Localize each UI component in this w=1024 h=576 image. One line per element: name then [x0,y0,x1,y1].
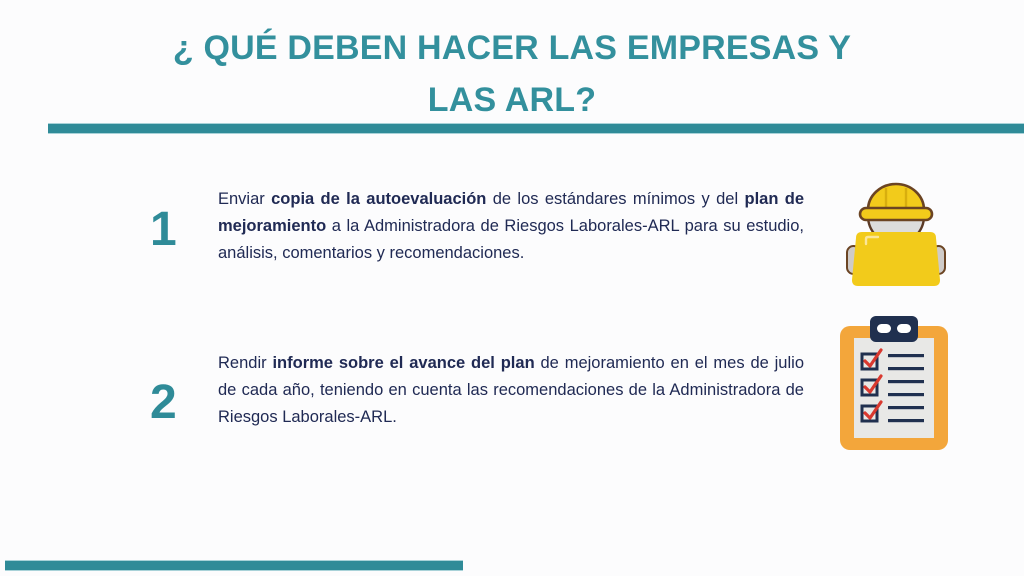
item-number-1: 1 [150,206,202,254]
footer-divider [5,560,463,571]
text-run: Rendir [218,354,272,372]
text-run-bold: copia de la autoevaluación [271,190,486,208]
item-text-1: Enviar copia de la autoevaluación de los… [218,186,804,267]
page-title-line-2: LAS ARL? [112,74,912,126]
text-run: Enviar [218,190,271,208]
clipboard-checklist-icon [832,314,958,454]
item-text-2: Rendir informe sobre el avance del plan … [218,350,804,431]
hard-hat-worker-icon [826,166,966,290]
page-title-line-1: ¿ QUÉ DEBEN HACER LAS EMPRESAS Y [112,22,912,74]
header-divider [48,123,1024,134]
page-title: ¿ QUÉ DEBEN HACER LAS EMPRESAS Y LAS ARL… [112,22,912,126]
text-run-bold: informe sobre el avance del plan [272,354,534,372]
item-number-2: 2 [150,379,202,427]
slide-canvas: ¿ QUÉ DEBEN HACER LAS EMPRESAS Y LAS ARL… [0,0,1024,576]
text-run: de los estándares mínimos y del [486,190,744,208]
